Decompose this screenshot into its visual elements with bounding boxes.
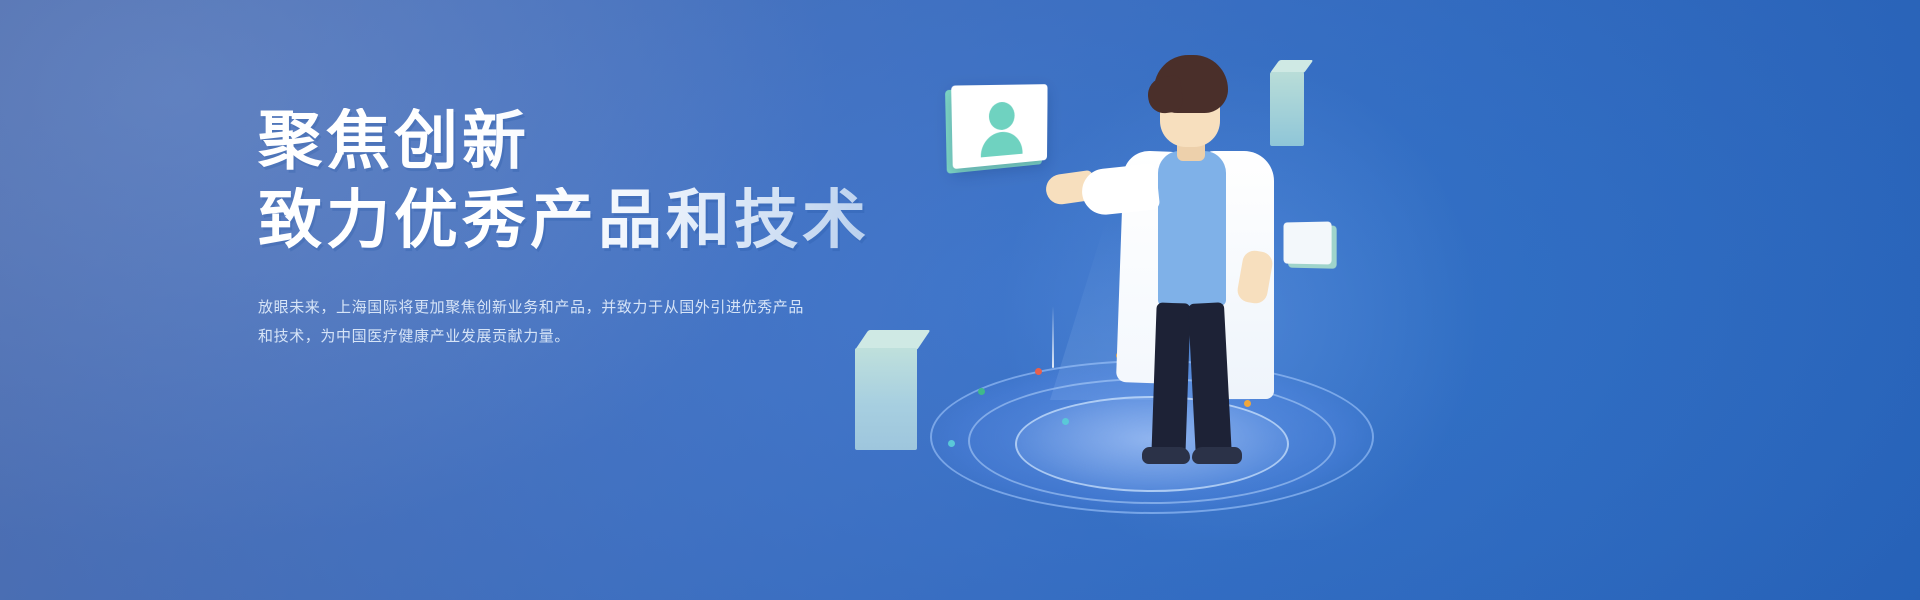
doctor-figure — [1062, 55, 1322, 455]
user-avatar-icon — [989, 102, 1015, 131]
shoe-right — [1192, 447, 1242, 464]
coat-sleeve-left — [1080, 163, 1160, 217]
shoe-left — [1142, 447, 1190, 464]
subtext-line-2: 和技术，为中国医疗健康产业发展贡献力量。 — [258, 322, 858, 351]
headline-line-2: 致力优秀产品和技术 — [258, 187, 898, 254]
decor-block-short-front — [855, 348, 917, 450]
hero-banner: 聚焦创新 致力优秀产品和技术 放眼未来，上海国际将更加聚焦创新业务和产品，并致力… — [0, 0, 1920, 600]
floating-user-card — [951, 84, 1047, 169]
platform-tick-1 — [1052, 306, 1054, 368]
hair-fringe — [1146, 75, 1185, 115]
leg-left — [1151, 302, 1190, 458]
particle-2 — [978, 388, 985, 395]
copy-block: 聚焦创新 致力优秀产品和技术 放眼未来，上海国际将更加聚焦创新业务和产品，并致力… — [258, 108, 898, 352]
headline-line-1: 聚焦创新 — [258, 108, 898, 175]
illustration — [830, 0, 1920, 600]
subtext-line-1: 放眼未来，上海国际将更加聚焦创新业务和产品，并致力于从国外引进优秀产品 — [258, 293, 858, 322]
card-face — [951, 84, 1047, 169]
shirt — [1158, 151, 1226, 306]
particle-1 — [1035, 368, 1042, 375]
particle-6 — [948, 440, 955, 447]
subtext-paragraph: 放眼未来，上海国际将更加聚焦创新业务和产品，并致力于从国外引进优秀产品 和技术，… — [258, 293, 858, 352]
decor-block-short — [855, 330, 917, 450]
user-avatar-body-icon — [981, 131, 1023, 158]
decor-block-short-top — [855, 330, 930, 350]
